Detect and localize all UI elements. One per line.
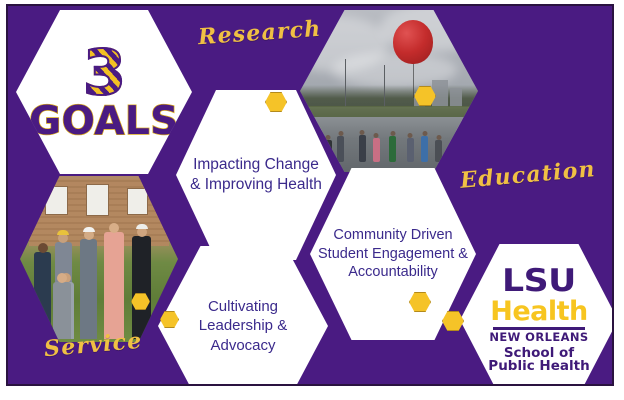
infographic-canvas: 3 GOALS Impacting Change & Improving Hea… — [0, 0, 624, 400]
goals-number: 3 — [83, 44, 125, 101]
hexagon-goal-cultivating-leadership: Cultivating Leadership & Advocacy — [158, 246, 328, 386]
person-figure — [359, 135, 366, 162]
window-shape — [127, 188, 148, 215]
campus-name: NEW ORLEANS — [489, 332, 588, 344]
photo-hexagon-balloon-launch — [300, 10, 478, 172]
pillar-label-research: Research — [197, 16, 322, 51]
lsu-wordmark: LSU — [502, 266, 576, 297]
hexagon-lsu-health-logo: LSU Health NEW ORLEANS School of Public … — [460, 244, 614, 386]
goal-text: Cultivating Leadership & Advocacy — [158, 297, 328, 354]
hexagon-goal-impacting-change: Impacting Change & Improving Health — [176, 90, 336, 260]
health-wordmark: Health — [490, 298, 588, 325]
person-figure — [80, 239, 97, 339]
pillar-label-education: Education — [459, 156, 597, 194]
light-pole — [384, 65, 385, 107]
building-shape — [450, 88, 462, 107]
person-figure — [34, 252, 51, 338]
person-figure — [421, 136, 428, 162]
person-figure — [337, 136, 344, 162]
photo-hexagon-volunteer-group — [20, 176, 178, 342]
person-figure — [132, 236, 151, 339]
window-shape — [86, 184, 109, 216]
window-shape — [45, 186, 68, 215]
lsu-health-logo: LSU Health NEW ORLEANS School of Public … — [460, 266, 614, 374]
person-figure — [53, 282, 71, 338]
person-figure — [389, 136, 396, 162]
person-figure — [435, 140, 442, 162]
goal-text: Impacting Change & Improving Health — [176, 155, 336, 194]
person-figure — [373, 138, 380, 162]
purple-panel: 3 GOALS Impacting Change & Improving Hea… — [6, 4, 614, 386]
goals-label: GOALS — [29, 99, 179, 144]
light-pole — [345, 59, 346, 108]
hexagon-goals-headline: 3 GOALS — [16, 10, 192, 174]
person-figure — [407, 138, 414, 162]
school-name-line2: Public Health — [488, 360, 589, 374]
person-figure — [104, 232, 124, 338]
goal-text: Community Driven Student Engagement & Ac… — [310, 226, 476, 281]
red-balloon — [393, 20, 433, 64]
